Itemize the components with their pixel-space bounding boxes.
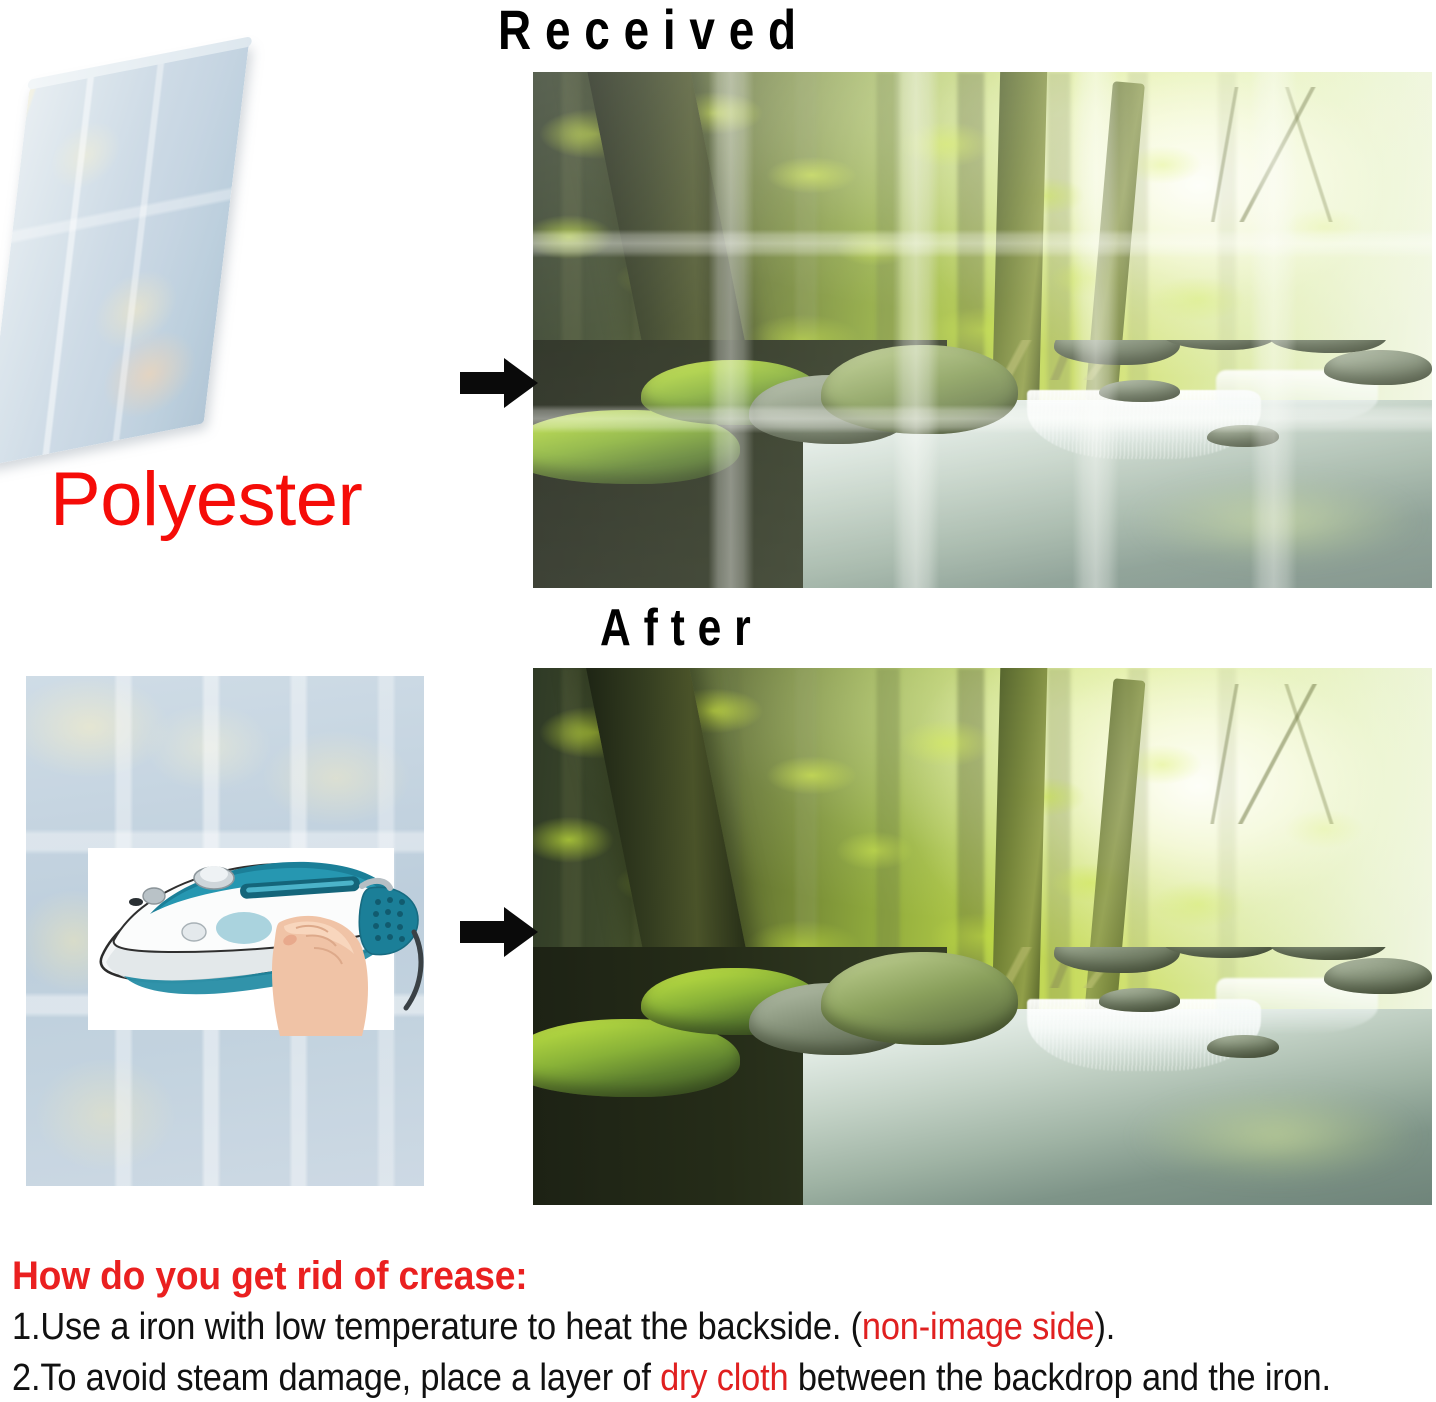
forest-scene: [533, 72, 1432, 588]
folded-polyester-fabric-sample: [22, 78, 412, 478]
small-rock: [1099, 988, 1180, 1011]
fabric-fold-lines: [0, 41, 249, 466]
care-line-2-suffix: between the backdrop and the iron.: [788, 1357, 1330, 1399]
small-rock: [1207, 425, 1279, 447]
care-line-2-prefix: 2.To avoid steam damage, place a layer o…: [12, 1357, 660, 1399]
stream-scene: [533, 947, 1432, 1205]
after-backdrop-photo: [533, 668, 1432, 1205]
care-line-1-highlight: non-image side: [862, 1306, 1095, 1348]
grey-rock: [1324, 350, 1432, 385]
water-glow: [1108, 479, 1414, 573]
received-heading: Received: [498, 2, 810, 58]
upper-branches: [1144, 684, 1414, 824]
received-backdrop-photo: [533, 72, 1432, 588]
small-rock: [1207, 1035, 1279, 1058]
care-instructions-heading: How do you get rid of crease:: [12, 1254, 1333, 1299]
forest-scene: [533, 668, 1432, 1205]
small-rock: [1099, 380, 1180, 402]
ironing-demonstration-photo: [26, 676, 424, 1186]
polyester-material-label: Polyester: [50, 462, 362, 538]
care-instruction-line-2: 2.To avoid steam damage, place a layer o…: [12, 1356, 1297, 1401]
after-heading: After: [600, 602, 763, 654]
care-line-2-highlight: dry cloth: [660, 1357, 788, 1399]
stream-scene: [533, 340, 1432, 588]
large-rock: [821, 345, 1019, 434]
care-line-1-suffix: ).: [1094, 1306, 1115, 1348]
care-instruction-line-1: 1.Use a iron with low temperature to hea…: [12, 1305, 1297, 1350]
care-instructions: How do you get rid of crease: 1.Use a ir…: [12, 1254, 1432, 1400]
fabric-sheet: [0, 41, 249, 466]
upper-branches: [1144, 87, 1414, 221]
arrow-right-icon: [460, 905, 538, 959]
water-glow: [1108, 1092, 1414, 1190]
care-line-1-prefix: 1.Use a iron with low temperature to hea…: [12, 1306, 862, 1348]
large-rock: [821, 952, 1019, 1045]
arrow-right-icon: [460, 356, 538, 410]
steam-iron-icon: [84, 836, 424, 1046]
grey-rock: [1324, 958, 1432, 994]
